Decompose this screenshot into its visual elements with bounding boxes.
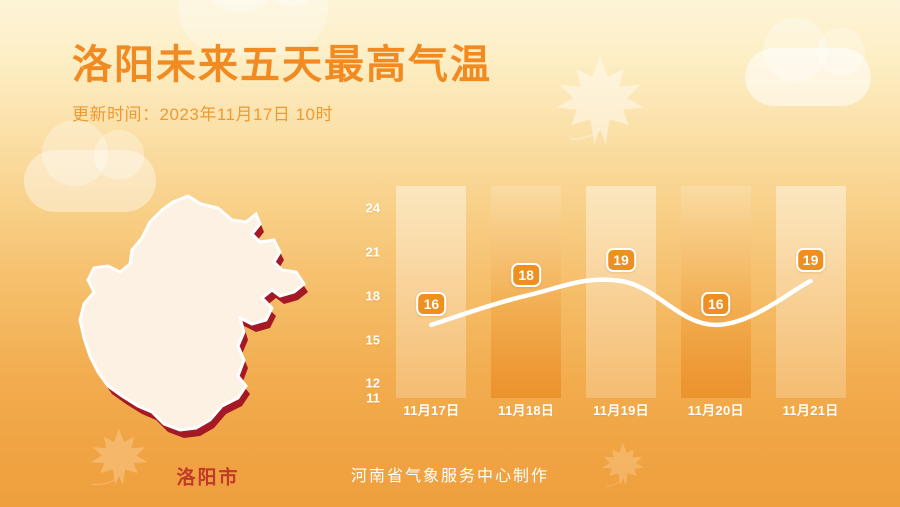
infographic-canvas: 洛阳未来五天最高气温 更新时间：2023年11月17日 10时 洛阳市 2421… bbox=[0, 0, 900, 507]
luoyang-map: 洛阳市 bbox=[60, 180, 330, 440]
x-axis-date-label: 11月20日 bbox=[670, 400, 762, 419]
maple-leaf-icon bbox=[552, 52, 648, 148]
y-axis-tick: 11 bbox=[346, 391, 380, 406]
chart-y-axis: 242118151211 bbox=[338, 186, 380, 426]
x-axis-date-label: 11月21日 bbox=[765, 400, 857, 419]
y-axis-tick: 18 bbox=[346, 288, 380, 303]
temperature-value-badge: 19 bbox=[796, 248, 826, 272]
y-axis-tick: 21 bbox=[346, 244, 380, 259]
temperature-line bbox=[384, 186, 858, 398]
y-axis-tick: 15 bbox=[346, 332, 380, 347]
temperature-value-badge: 19 bbox=[606, 248, 636, 272]
y-axis-tick: 12 bbox=[346, 376, 380, 391]
x-axis-date-label: 11月18日 bbox=[480, 400, 572, 419]
x-axis-date-label: 11月17日 bbox=[385, 400, 477, 419]
cloud-decoration-top-right bbox=[745, 48, 871, 106]
x-axis-date-label: 11月19日 bbox=[575, 400, 667, 419]
temperature-chart: 242118151211 1618191619 11月17日11月18日11月1… bbox=[338, 186, 858, 426]
header-block: 洛阳未来五天最高气温 更新时间：2023年11月17日 10时 bbox=[72, 42, 492, 125]
page-title: 洛阳未来五天最高气温 bbox=[72, 42, 492, 88]
y-axis-tick: 24 bbox=[346, 200, 380, 215]
temperature-value-badge: 18 bbox=[511, 263, 541, 287]
temperature-value-badge: 16 bbox=[701, 292, 731, 316]
footer-credit: 河南省气象服务中心制作 bbox=[0, 462, 900, 486]
update-time-text: 更新时间：2023年11月17日 10时 bbox=[72, 100, 492, 125]
temperature-value-badge: 16 bbox=[417, 292, 447, 316]
chart-x-axis: 11月17日11月18日11月19日11月20日11月21日 bbox=[384, 400, 858, 424]
map-shape bbox=[60, 180, 330, 440]
